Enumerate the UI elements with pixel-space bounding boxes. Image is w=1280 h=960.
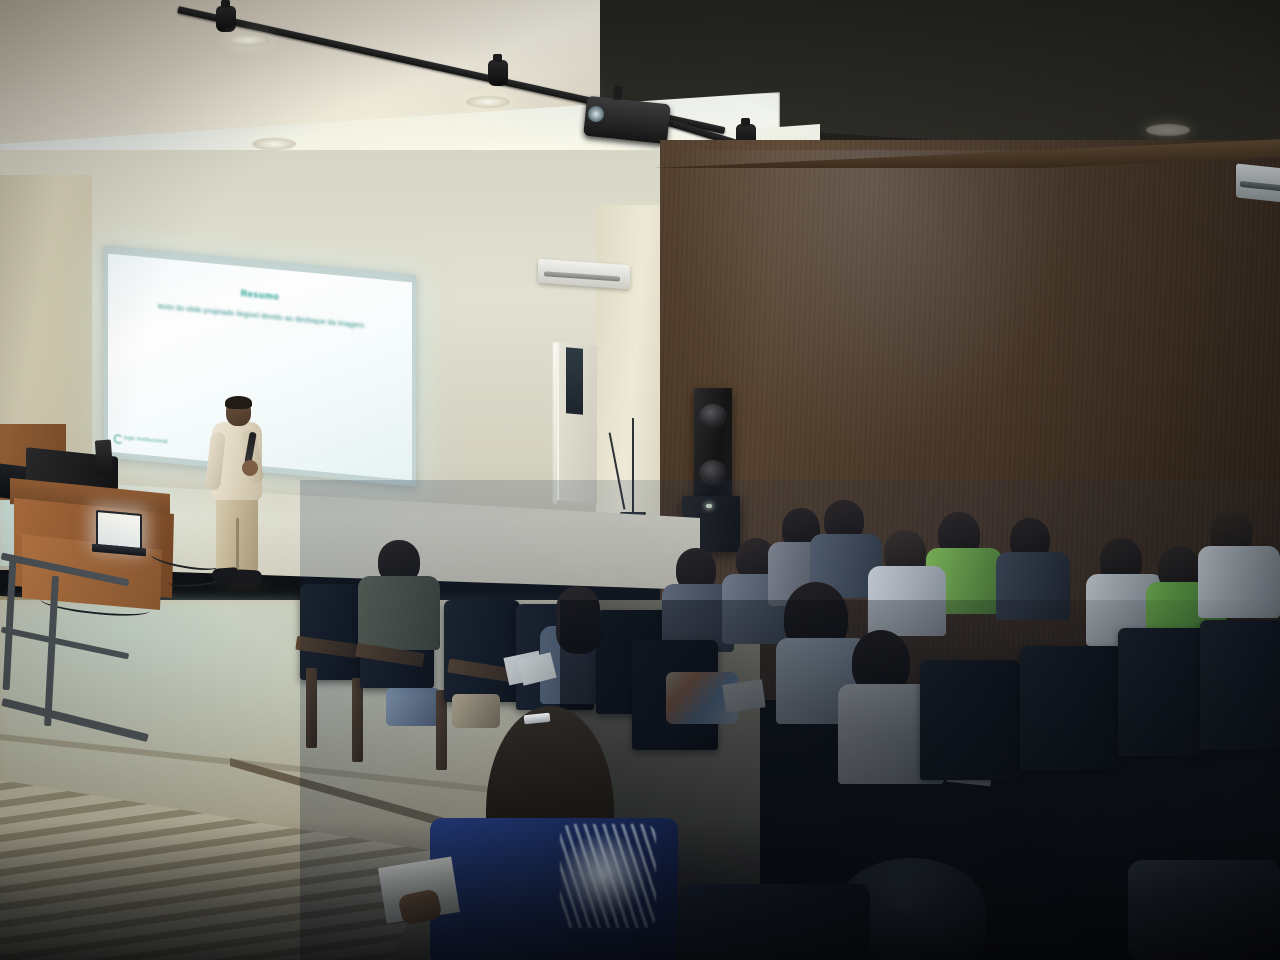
spotlight-icon — [216, 6, 236, 32]
auditorium-photo: Resumo texto do slide projetado ilegivel… — [0, 0, 1280, 960]
recessed-light-icon — [1146, 124, 1190, 136]
presenter-hair — [225, 396, 252, 409]
presenter-shoe — [212, 567, 239, 582]
presenter — [206, 398, 270, 594]
slide-logo: logo institucional — [124, 435, 168, 445]
wood-wall-highlight — [680, 150, 1100, 490]
presenter-shoe — [236, 569, 263, 583]
bottom-shadow — [0, 820, 1280, 960]
recessed-light-icon — [226, 34, 270, 46]
recessed-light-icon — [252, 138, 296, 150]
audio-equipment-icon — [95, 439, 113, 474]
air-conditioner-icon — [1236, 163, 1280, 202]
spotlight-icon — [488, 60, 508, 86]
recessed-light-icon — [466, 96, 510, 108]
presenter-hand — [242, 460, 258, 476]
door-window — [566, 347, 583, 414]
presenter-leg-separation — [236, 518, 239, 574]
